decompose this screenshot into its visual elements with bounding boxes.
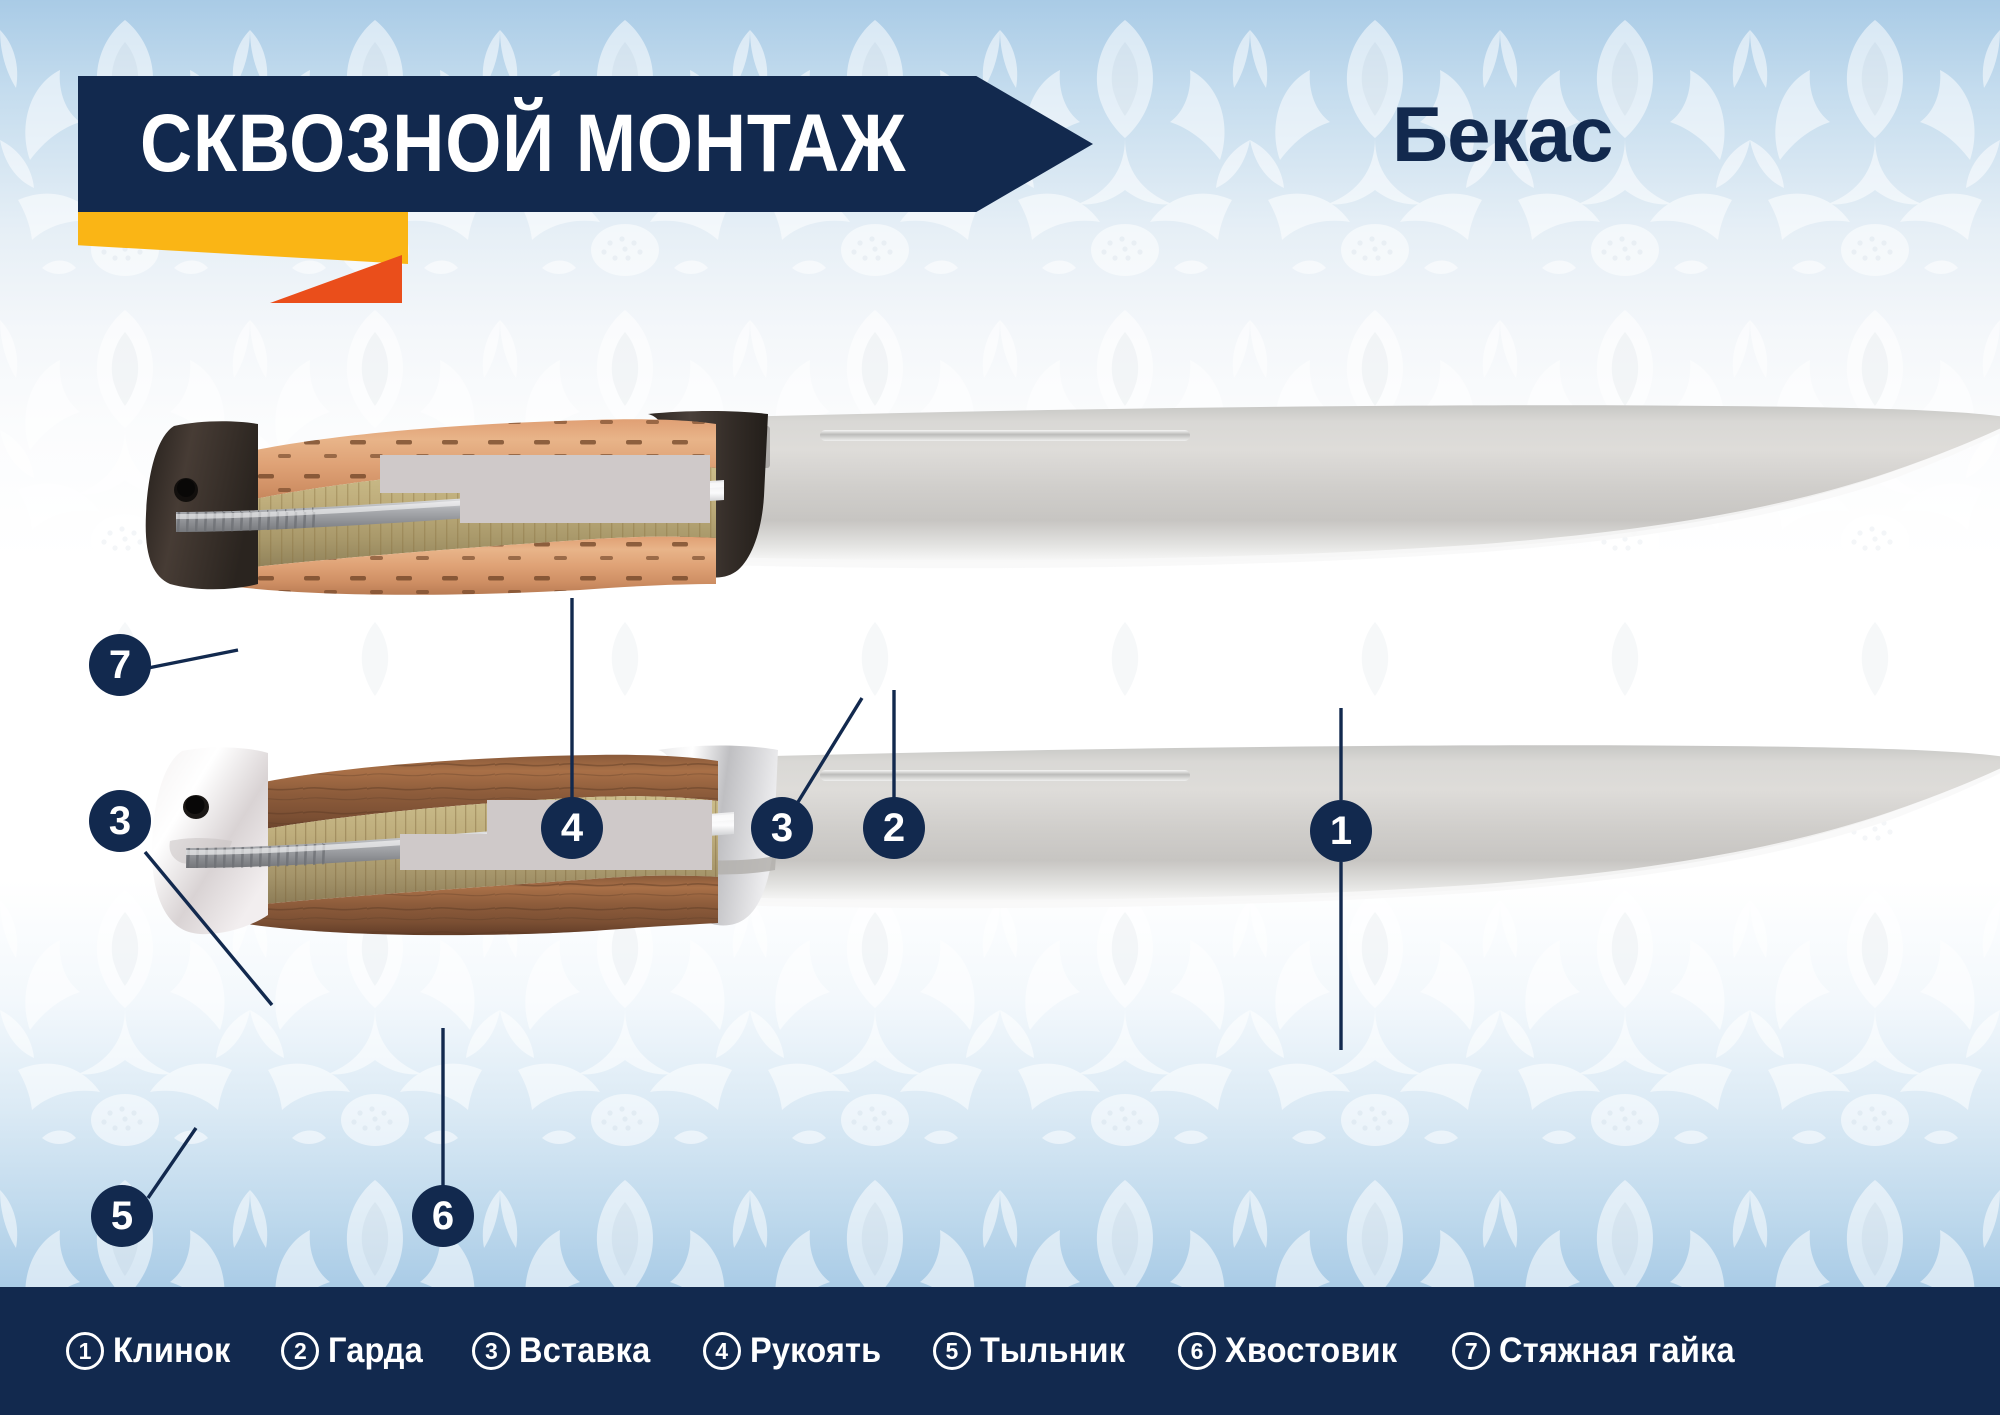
legend-item-tang[interactable]: 6 Хвостовик (1178, 1331, 1410, 1371)
legend-item-spacer[interactable]: 3 Вставка (472, 1331, 660, 1371)
legend-item-handle[interactable]: 4 Рукоять (703, 1331, 891, 1371)
legend-item-clamping-nut[interactable]: 7 Стяжная гайка (1452, 1331, 1753, 1371)
callout-badge-4-number: 4 (561, 808, 583, 848)
callout-badge-4[interactable]: 4 (541, 797, 603, 859)
callout-badge-1-number: 1 (1330, 811, 1352, 851)
legend-num-2: 2 (281, 1332, 319, 1370)
legend-num-4: 4 (703, 1332, 741, 1370)
callout-leader-lines (0, 0, 2000, 1415)
legend-bar: 1 Клинок 2 Гарда 3 Вставка 4 Рукоять 5 Т… (0, 1287, 2000, 1415)
callout-badge-6[interactable]: 6 (412, 1185, 474, 1247)
callout-badge-3-front-number: 3 (771, 808, 793, 848)
legend-label-1: Клинок (113, 1331, 231, 1371)
legend-num-1: 1 (66, 1332, 104, 1370)
callout-badge-3-upper-number: 3 (109, 801, 131, 841)
legend-label-3: Вставка (519, 1331, 650, 1371)
legend-num-5: 5 (933, 1332, 971, 1370)
callout-badge-3-front[interactable]: 3 (751, 797, 813, 859)
legend-item-blade[interactable]: 1 Клинок (66, 1331, 239, 1371)
legend-label-6: Хвостовик (1225, 1331, 1397, 1371)
callout-badge-7-number: 7 (109, 645, 131, 685)
legend-num-7: 7 (1452, 1332, 1490, 1370)
legend-item-guard[interactable]: 2 Гарда (281, 1331, 430, 1371)
legend-label-4: Рукоять (750, 1331, 881, 1371)
callout-badge-2[interactable]: 2 (863, 797, 925, 859)
callout-badge-6-number: 6 (432, 1196, 454, 1236)
legend-label-5: Тыльник (980, 1331, 1125, 1371)
legend-item-butt-cap[interactable]: 5 Тыльник (933, 1331, 1136, 1371)
infographic-canvas: СКВОЗНОЙ МОНТАЖ Бекас (0, 0, 2000, 1415)
legend-num-3: 3 (472, 1332, 510, 1370)
legend-num-6: 6 (1178, 1332, 1216, 1370)
callout-badge-1[interactable]: 1 (1310, 800, 1372, 862)
legend-label-2: Гарда (328, 1331, 423, 1371)
callout-badge-7[interactable]: 7 (89, 634, 151, 696)
callout-badge-2-number: 2 (883, 808, 905, 848)
callout-badge-3-upper[interactable]: 3 (89, 790, 151, 852)
callout-badge-5[interactable]: 5 (91, 1185, 153, 1247)
callout-badge-5-number: 5 (111, 1196, 133, 1236)
legend-label-7: Стяжная гайка (1499, 1331, 1735, 1371)
